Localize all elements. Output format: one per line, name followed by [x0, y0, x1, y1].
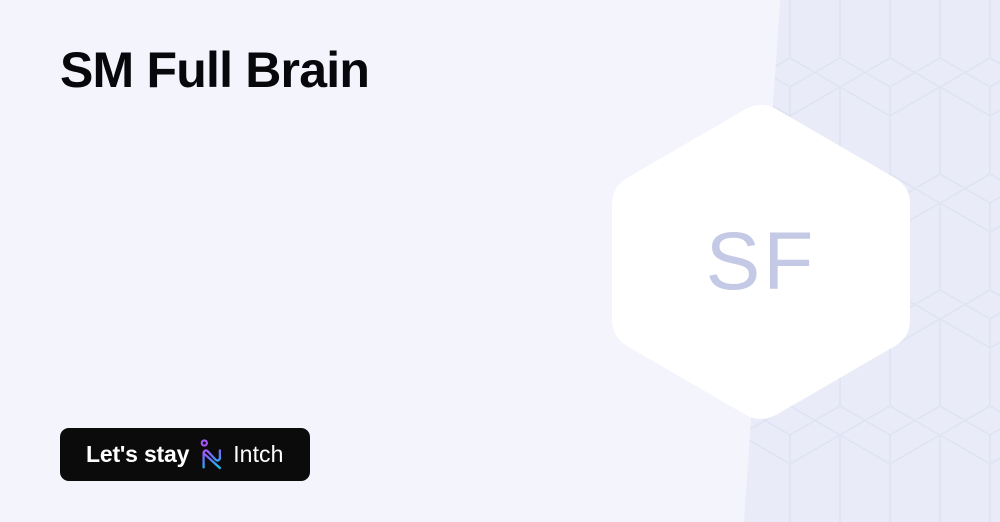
intch-brand-label: Intch [233, 443, 283, 466]
page-title: SM Full Brain [60, 42, 369, 100]
lets-stay-intch-button[interactable]: Let's stay Intch [60, 428, 310, 481]
cta-label: Let's stay [86, 443, 189, 466]
profile-share-card: SM Full Brain SF Let's stay [0, 0, 1000, 522]
intch-n-logo-icon [198, 439, 224, 471]
avatar: SF [605, 105, 917, 419]
avatar-initials: SF [605, 105, 917, 419]
